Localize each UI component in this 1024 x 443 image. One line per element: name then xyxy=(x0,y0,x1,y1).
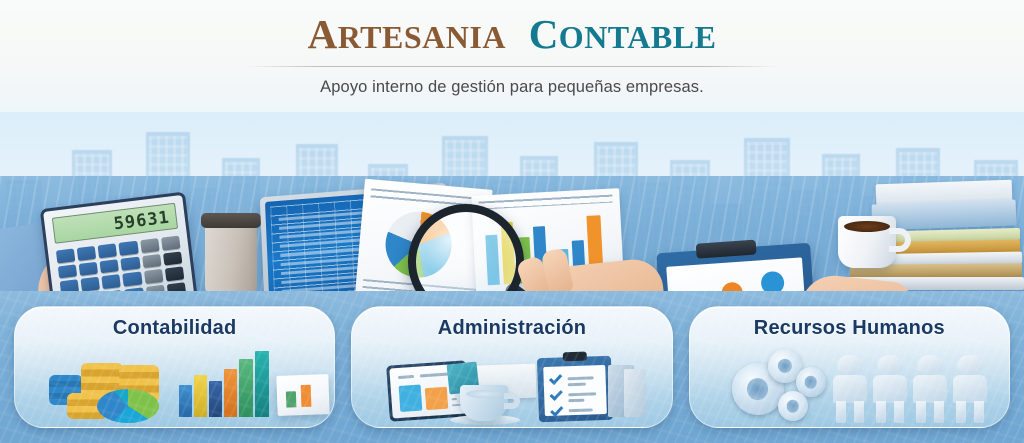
gear-icon-top xyxy=(768,349,802,383)
checklist-clipboard xyxy=(537,356,613,423)
header-bar: ARTESANIA CONTABLE Apoyo interno de gest… xyxy=(0,0,1024,112)
card-contabilidad[interactable]: Contabilidad xyxy=(14,306,335,428)
people-figure-2 xyxy=(870,355,910,423)
mini-report xyxy=(276,374,329,416)
page-subtitle: Apoyo interno de gestión para pequeñas e… xyxy=(0,78,1024,97)
coin-stack-blue xyxy=(49,375,83,405)
category-strip: Contabilidad xyxy=(0,291,1024,443)
gear-icon-mid xyxy=(796,367,826,397)
bar-blue xyxy=(179,385,192,417)
page-title: ARTESANIA CONTABLE xyxy=(0,14,1024,55)
bar-yellow xyxy=(194,375,207,417)
card-administracion-art xyxy=(352,345,671,427)
coin-stack-gold-1 xyxy=(81,363,123,405)
title-part1-rest: RTESANIA xyxy=(338,19,506,55)
card-contabilidad-label: Contabilidad xyxy=(15,317,334,340)
bar-orange xyxy=(224,369,237,417)
folder-stack-right xyxy=(608,365,634,417)
card-administracion[interactable]: Administración xyxy=(351,306,672,428)
title-part2-rest: ONTABLE xyxy=(559,19,717,55)
bar-teal xyxy=(255,351,269,417)
card-recursos-humanos-art xyxy=(690,345,1009,427)
hero-illustration: 59631 xyxy=(0,96,1024,296)
bar-green xyxy=(239,359,253,417)
coffee-mug xyxy=(838,216,896,268)
clipboard-clip xyxy=(696,240,757,259)
paper-coffee-cup xyxy=(205,222,257,300)
people-figure-3 xyxy=(910,355,950,423)
people-figure-1 xyxy=(830,355,870,423)
card-recursos-humanos-label: Recursos Humanos xyxy=(690,317,1009,340)
title-divider xyxy=(245,66,779,67)
people-figure-4 xyxy=(950,355,990,423)
card-administracion-label: Administración xyxy=(352,317,671,340)
checklist-page xyxy=(544,365,608,416)
coin-stack-gold-3 xyxy=(67,393,107,419)
pie-chart xyxy=(97,389,159,423)
card-contabilidad-art xyxy=(15,345,334,427)
banner: 59631 xyxy=(0,0,1024,443)
title-part1-initial: A xyxy=(308,11,338,57)
bar-navy xyxy=(209,381,222,417)
folder-stack-right-2 xyxy=(624,369,646,417)
coin-stack-gold-2 xyxy=(119,365,159,403)
title-part2-initial: C xyxy=(529,11,559,57)
card-recursos-humanos[interactable]: Recursos Humanos xyxy=(689,306,1010,428)
card-coffee-cup xyxy=(460,385,508,421)
gear-icon-small xyxy=(778,391,808,421)
gear-icon-big xyxy=(732,363,784,415)
tablet-device xyxy=(386,360,470,421)
